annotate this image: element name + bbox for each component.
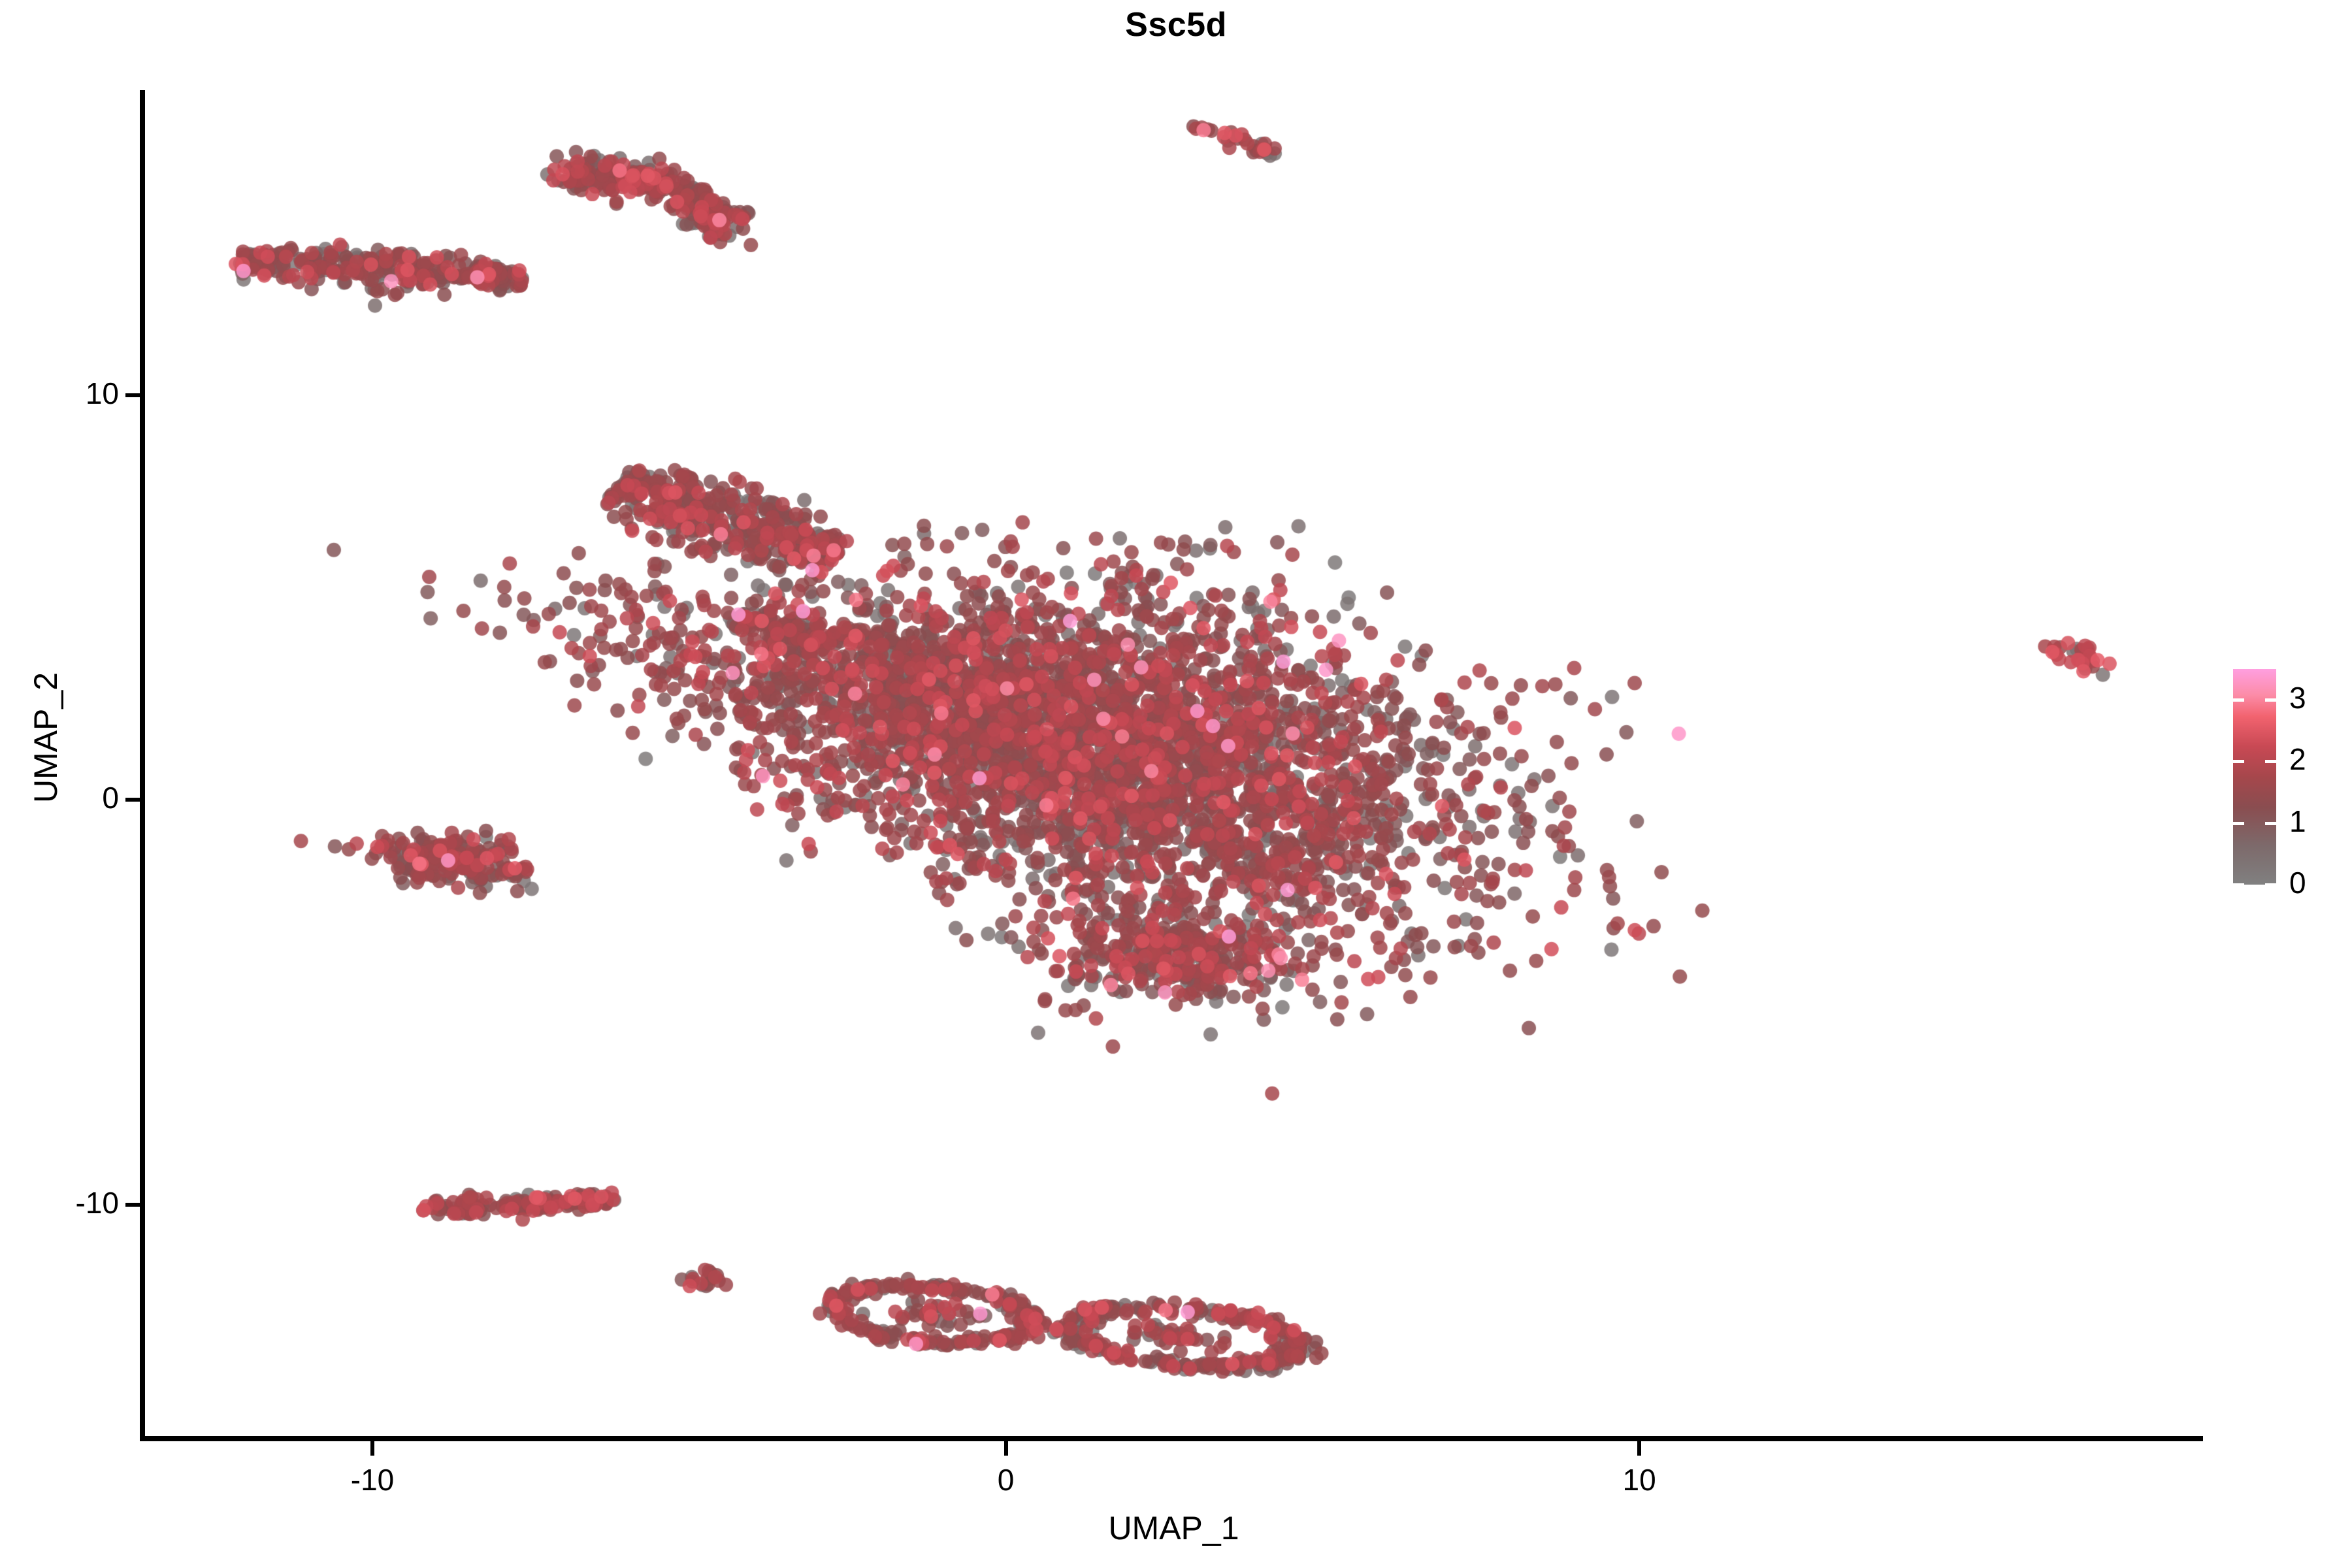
y-tick-mark xyxy=(125,798,140,802)
legend-tick-mark xyxy=(2265,698,2276,702)
x-axis-line xyxy=(140,1436,2203,1441)
legend-tick-label: 1 xyxy=(2289,806,2348,836)
x-tick-mark xyxy=(370,1441,374,1456)
legend-tick-label: 3 xyxy=(2289,683,2348,713)
y-tick-mark xyxy=(125,393,140,397)
x-tick-mark xyxy=(1637,1441,1641,1456)
color-legend: 3 2 1 0 xyxy=(2233,669,2344,885)
x-tick-mark xyxy=(1004,1441,1008,1456)
legend-tick-mark xyxy=(2265,822,2276,825)
legend-tick-mark xyxy=(2233,760,2244,763)
page-title: Ssc5d xyxy=(144,7,2208,44)
y-axis-title: UMAP_2 xyxy=(27,444,65,1032)
legend-tick-mark xyxy=(2265,883,2276,887)
y-axis-line xyxy=(140,90,145,1441)
umap-feature-plot: Ssc5d 10 0 -10 -10 0 10 UMAP_1 UMAP_2 3 … xyxy=(0,0,2352,1568)
legend-tick-label: 0 xyxy=(2289,868,2348,898)
legend-tick-mark xyxy=(2265,760,2276,763)
x-axis-title: UMAP_1 xyxy=(144,1509,2203,1547)
legend-tick-mark xyxy=(2233,883,2244,887)
y-tick-label: 10 xyxy=(0,376,119,411)
scatter-points-canvas xyxy=(144,91,2203,1439)
x-tick-label: 10 xyxy=(1554,1462,1724,1497)
legend-tick-label: 2 xyxy=(2289,744,2348,774)
x-tick-label: 0 xyxy=(921,1462,1091,1497)
legend-tick-mark xyxy=(2233,698,2244,702)
y-tick-mark xyxy=(125,1203,140,1207)
x-tick-label: -10 xyxy=(287,1462,457,1497)
y-tick-label: -10 xyxy=(0,1185,119,1220)
plot-panel xyxy=(144,91,2203,1439)
legend-tick-mark xyxy=(2233,822,2244,825)
